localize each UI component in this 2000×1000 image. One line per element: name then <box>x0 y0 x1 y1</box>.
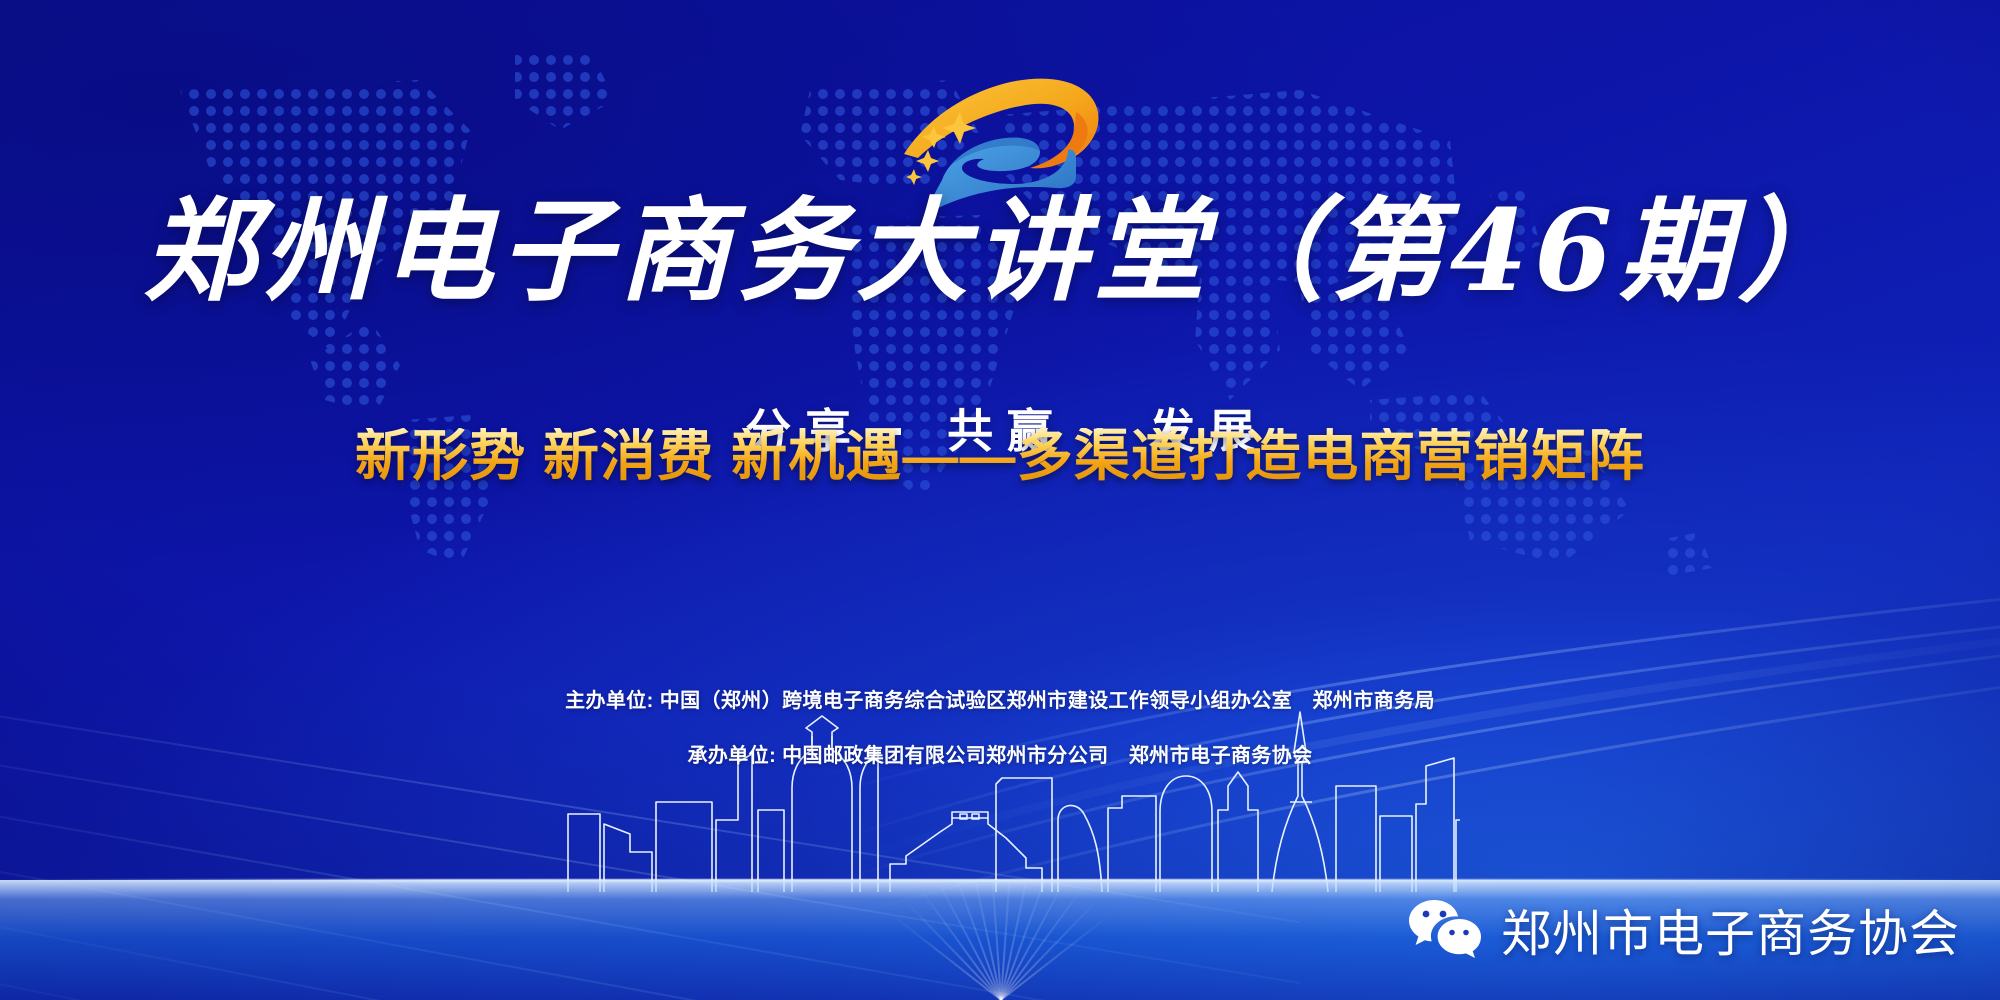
wechat-icon <box>1407 898 1483 962</box>
wechat-badge: 郑州市电子商务协会 <box>1407 894 1960 966</box>
organizer-line-host: 主办单位: 中国（郑州）跨境电子商务综合试验区郑州市建设工作领导小组办公室 郑州… <box>0 684 2000 713</box>
city-skyline-outline <box>560 692 1460 892</box>
poster-canvas: 郑州电子商务大讲堂（第46期） 分享 · 共赢 · 发展 新形势 新消费 新机遇… <box>0 0 2000 1000</box>
headline-topic: 新形势 新消费 新机遇——多渠道打造电商营销矩阵 <box>0 428 2000 484</box>
wechat-account-name: 郑州市电子商务协会 <box>1501 894 1960 966</box>
organizer-line-coorganizer: 承办单位: 中国邮政集团有限公司郑州市分公司 郑州市电子商务协会 <box>0 739 2000 768</box>
page-title-calligraphy: 郑州电子商务大讲堂（第46期） <box>0 196 2000 308</box>
